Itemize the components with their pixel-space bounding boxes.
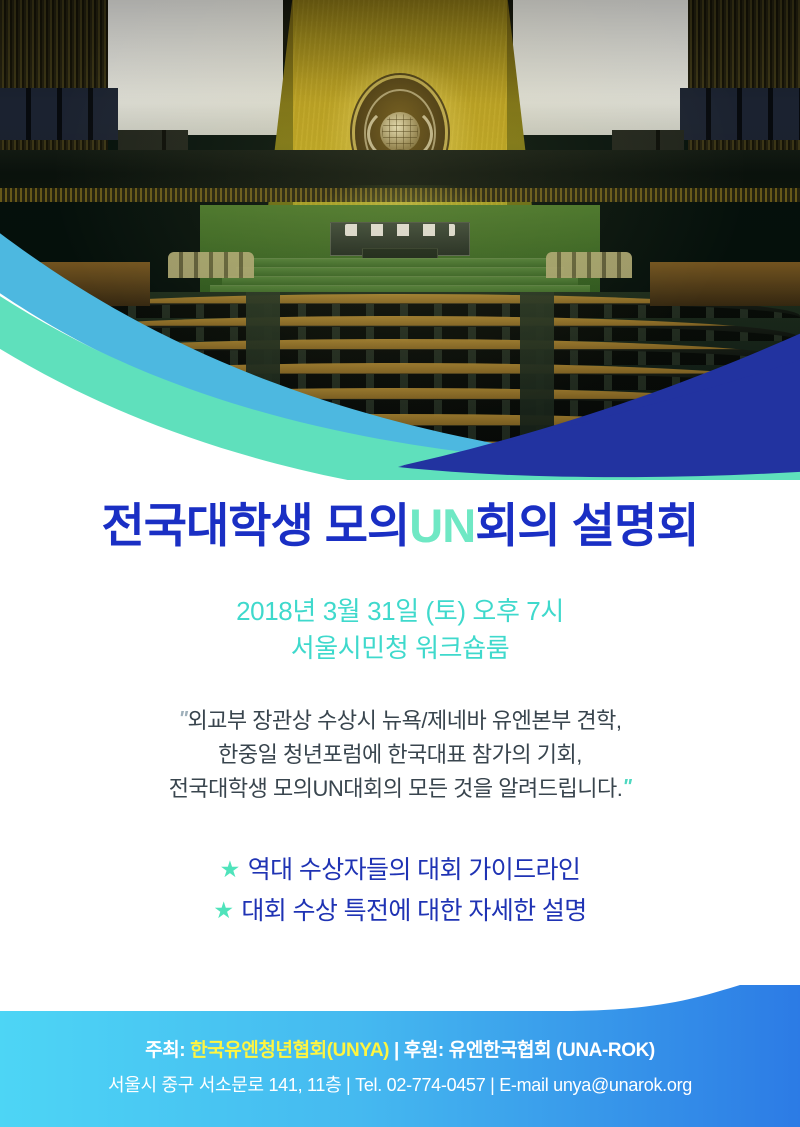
dais-objects bbox=[345, 224, 455, 236]
seat-row bbox=[0, 316, 800, 341]
footer-sponsor-name: 유엔한국협회 (UNA-ROK) bbox=[449, 1040, 655, 1061]
interpreter-booths-right bbox=[680, 88, 800, 140]
footer-separator: | 후원: bbox=[389, 1040, 449, 1061]
footer-text-group: 주최: 한국유엔청년협회(UNYA) | 후원: 유엔한국협회 (UNA-ROK… bbox=[0, 985, 800, 1127]
projection-screen-right bbox=[513, 0, 688, 135]
event-datetime: 2018년 3월 31일 (토) 오후 7시 서울시민청 워크숍룸 bbox=[0, 593, 800, 668]
footer-host-name: 한국유엔청년협회(UNYA) bbox=[190, 1040, 389, 1061]
quote-text-3: 전국대학생 모의UN대회의 모든 것을 알려드립니다. bbox=[169, 776, 623, 801]
star-icon: ★ bbox=[213, 897, 233, 923]
poster-root: 전국대학생 모의UN회의 설명회 2018년 3월 31일 (토) 오후 7시 … bbox=[0, 0, 800, 1127]
footer-host-label: 주최: bbox=[145, 1040, 190, 1061]
delegate-seating bbox=[0, 292, 800, 470]
hero-photo bbox=[0, 0, 800, 470]
footer-contact: 서울시 중구 서소문로 141, 11층 | Tel. 02-774-0457 … bbox=[108, 1071, 692, 1097]
highlight-list: ★역대 수상자들의 대회 가이드라인 ★대회 수상 특전에 대한 자세한 설명 bbox=[0, 850, 800, 931]
title-text-before: 전국대학생 모의 bbox=[102, 499, 410, 552]
list-item-label: 역대 수상자들의 대회 가이드라인 bbox=[248, 856, 581, 884]
quote-text-1: 외교부 장관상 수상시 뉴욕/제네바 유엔본부 견학, bbox=[187, 708, 621, 733]
list-item-label: 대회 수상 특전에 대한 자세한 설명 bbox=[241, 897, 586, 925]
quote-line-3: 전국대학생 모의UN대회의 모든 것을 알려드립니다." bbox=[0, 772, 800, 806]
aisle-right bbox=[520, 292, 554, 470]
seat-row bbox=[0, 363, 800, 390]
side-desk-left bbox=[0, 262, 150, 306]
seat-row bbox=[0, 388, 800, 416]
title-accent-un: UN bbox=[409, 499, 475, 552]
rostrum-step bbox=[250, 258, 550, 267]
rostrum-step bbox=[236, 267, 564, 276]
delegate-chairs-right bbox=[546, 252, 632, 278]
title-text-after: 회의 설명회 bbox=[475, 499, 698, 552]
event-date-line: 2018년 3월 31일 (토) 오후 7시 bbox=[236, 596, 564, 626]
delegate-chairs-left bbox=[168, 252, 254, 278]
footer-organizers: 주최: 한국유엔청년협회(UNYA) | 후원: 유엔한국협회 (UNA-ROK… bbox=[145, 1035, 655, 1062]
seat-row bbox=[0, 441, 800, 470]
quote-text-2: 한중일 청년포럼에 한국대표 참가의 기회, bbox=[0, 738, 800, 772]
un-general-assembly-photo bbox=[0, 0, 800, 470]
quote-line-1: "외교부 장관상 수상시 뉴욕/제네바 유엔본부 견학, bbox=[0, 704, 800, 738]
page-title: 전국대학생 모의UN회의 설명회 bbox=[0, 500, 800, 553]
projection-screen-left bbox=[108, 0, 283, 135]
globe-icon bbox=[380, 112, 420, 152]
event-venue-line: 서울시민청 워크숍룸 bbox=[0, 630, 800, 668]
interpreter-booths-left bbox=[0, 88, 118, 140]
seat-row bbox=[0, 339, 800, 365]
rostrum-step bbox=[222, 276, 578, 285]
seat-row bbox=[0, 414, 800, 443]
content-block: 전국대학생 모의UN회의 설명회 2018년 3월 31일 (토) 오후 7시 … bbox=[0, 470, 800, 1010]
list-item: ★대회 수상 특전에 대한 자세한 설명 bbox=[0, 891, 800, 932]
quote-close-mark: " bbox=[622, 776, 631, 798]
aisle-left bbox=[246, 292, 280, 470]
side-desk-right bbox=[650, 262, 800, 306]
event-description-quote: "외교부 장관상 수상시 뉴욕/제네바 유엔본부 견학, 한중일 청년포럼에 한… bbox=[0, 704, 800, 806]
footer-bar: 주최: 한국유엔청년협회(UNYA) | 후원: 유엔한국협회 (UNA-ROK… bbox=[0, 985, 800, 1127]
star-icon: ★ bbox=[220, 856, 240, 882]
list-item: ★역대 수상자들의 대회 가이드라인 bbox=[0, 850, 800, 891]
